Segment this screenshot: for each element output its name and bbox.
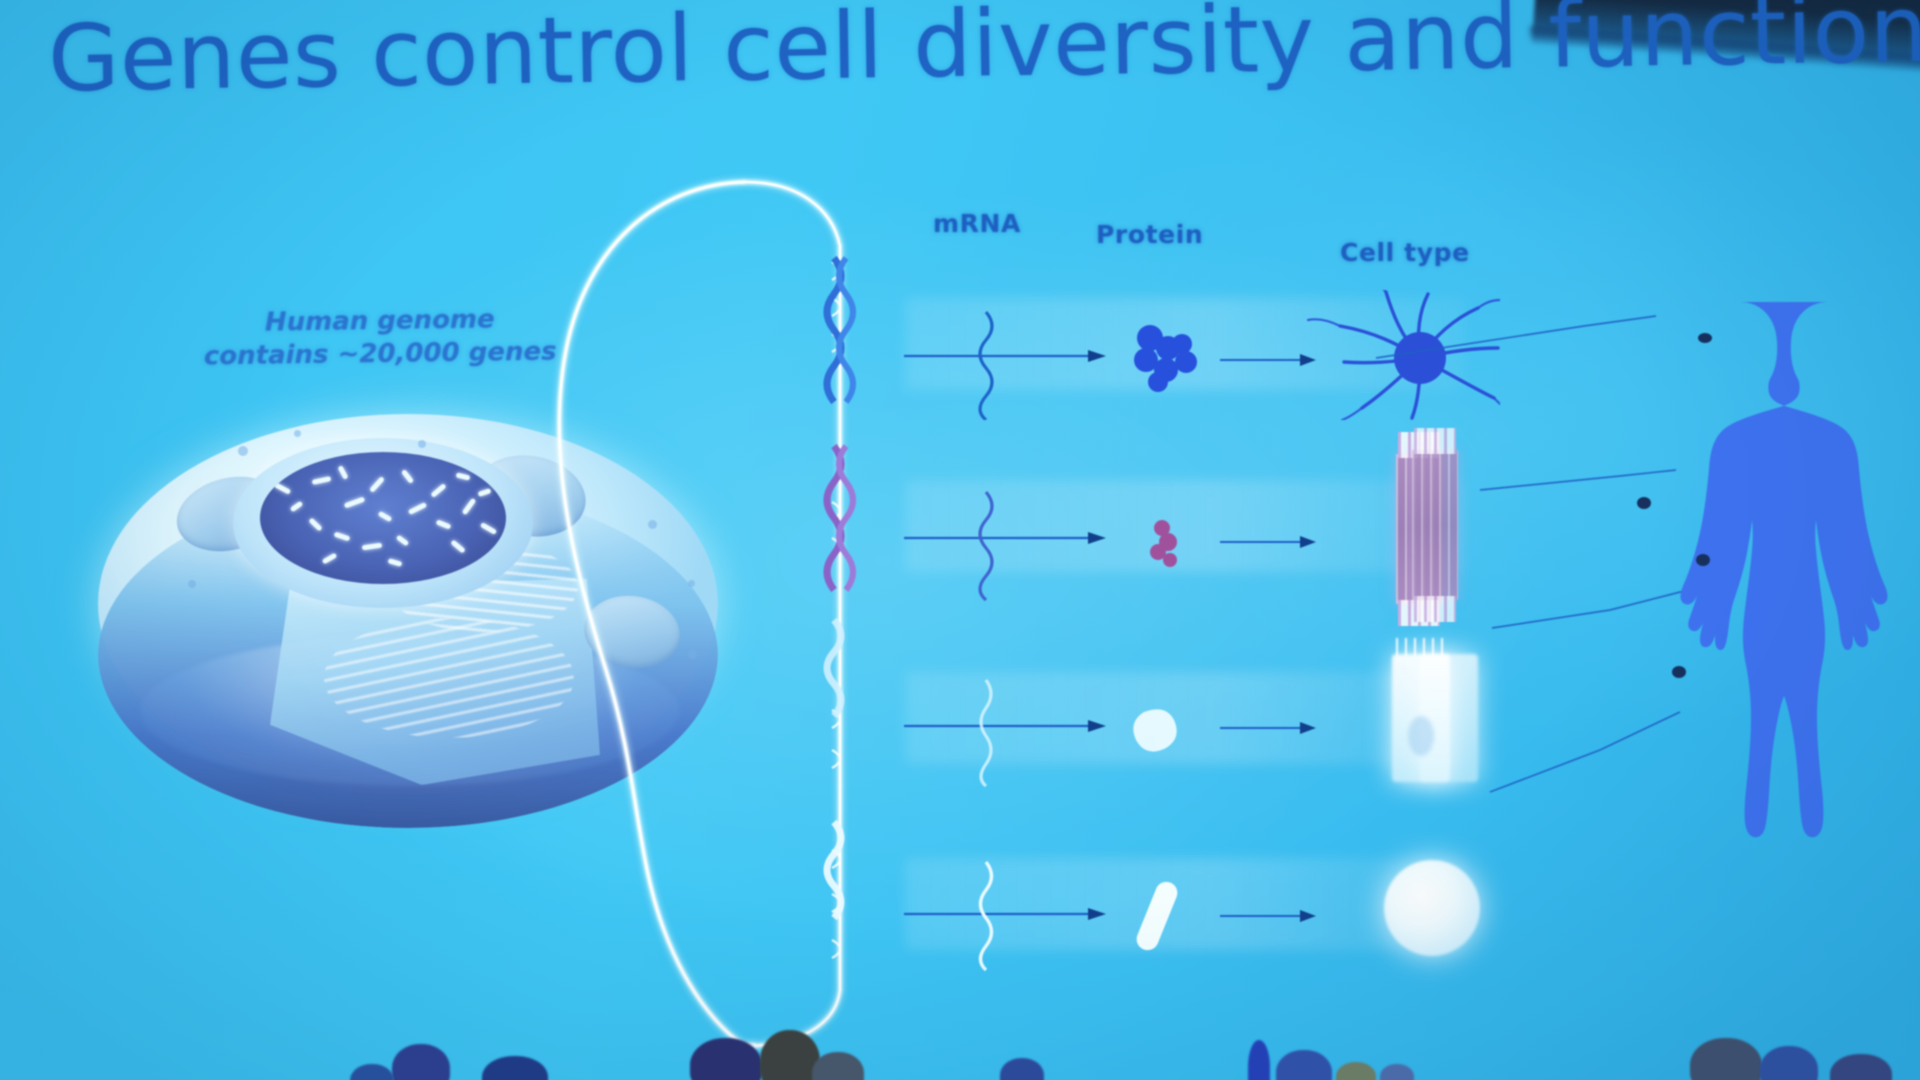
mrna-transcript-icon xyxy=(980,312,992,420)
audience-head xyxy=(812,1052,864,1080)
audience-head xyxy=(1248,1040,1270,1080)
transcription-arrow-head xyxy=(1088,908,1106,920)
page-title: Genes control cell diversity and functio… xyxy=(47,0,1748,109)
audience-head xyxy=(690,1038,762,1080)
audience-silhouettes xyxy=(0,1010,1920,1080)
audience-head xyxy=(1000,1058,1044,1080)
cytoplasm-granule xyxy=(188,580,196,588)
audience-head xyxy=(482,1056,548,1080)
nucleus xyxy=(260,452,506,584)
endoplasmic-reticulum-icon xyxy=(324,618,574,738)
human-body-figure xyxy=(1585,290,1915,980)
genome-annotation-line-2: contains ~20,000 genes xyxy=(190,336,570,375)
presentation-photo: Genes control cell diversity and functio… xyxy=(0,0,1920,1080)
transcription-arrow-head xyxy=(1088,532,1106,544)
genome-annotation-line-1: Human genome xyxy=(190,302,570,341)
slide-content-layer: Genes control cell diversity and functio… xyxy=(0,0,1920,1080)
audience-head xyxy=(1690,1038,1762,1080)
cytoplasm-granule xyxy=(418,440,426,448)
audience-head xyxy=(350,1064,394,1080)
genome-annotation: Human genome contains ~20,000 genes xyxy=(190,302,571,374)
audience-head xyxy=(760,1030,820,1080)
column-header-cell-type: Cell type xyxy=(1340,238,1470,267)
column-header-protein: Protein xyxy=(1096,220,1203,249)
marker-thigh xyxy=(1672,666,1686,678)
protein-small-purple-icon xyxy=(1150,520,1177,567)
transcription-arrow-head xyxy=(1088,720,1106,732)
mrna-transcript-icon xyxy=(980,492,992,600)
audience-head xyxy=(1830,1054,1892,1080)
mrna-transcript-icon xyxy=(981,862,992,970)
marker-head-brain xyxy=(1698,333,1712,343)
human-silhouette xyxy=(1681,302,1888,837)
audience-head xyxy=(1276,1050,1332,1080)
protein-pale-icon xyxy=(1133,709,1176,751)
cytoplasm-granule xyxy=(238,680,245,687)
audience-head xyxy=(1336,1062,1376,1080)
marker-abdomen xyxy=(1696,554,1710,566)
audience-head xyxy=(1760,1046,1818,1080)
chromatin xyxy=(260,452,506,584)
marker-upper-arm xyxy=(1637,497,1651,509)
cytoplasm-granule xyxy=(294,430,301,437)
mrna-transcript-icon xyxy=(981,680,991,786)
transcription-arrow-head xyxy=(1088,350,1106,362)
protein-rod-white-icon xyxy=(1133,879,1180,954)
cytoplasm-granule xyxy=(238,446,248,456)
audience-head xyxy=(1380,1064,1414,1080)
audience-head xyxy=(392,1044,450,1080)
